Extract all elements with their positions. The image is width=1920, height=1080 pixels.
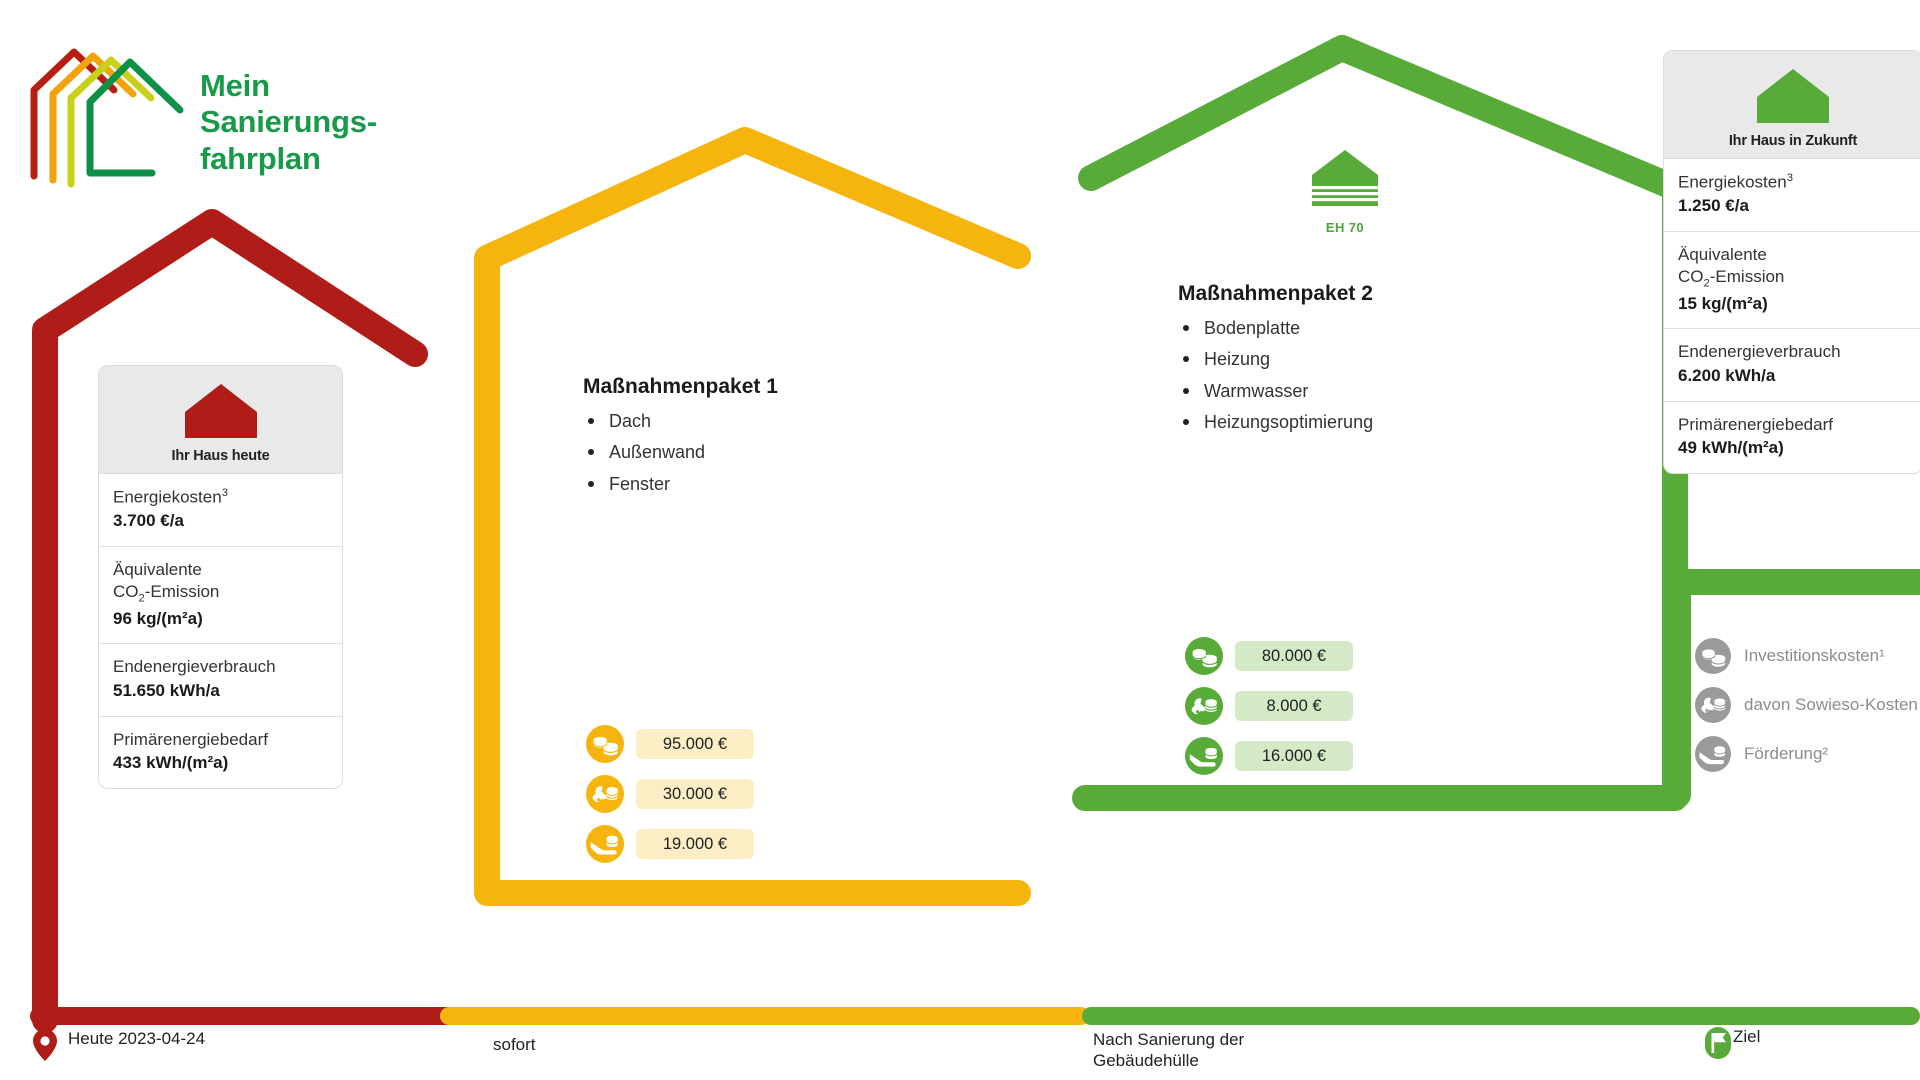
cost-row-investitionskosten: 80.000 € <box>1185 637 1353 675</box>
wrench-coins-icon <box>586 775 624 813</box>
eh-badge: EH 70 <box>1285 148 1405 235</box>
wrench-coins-icon <box>1185 687 1223 725</box>
row-label: Endenergieverbrauch <box>1678 342 1841 361</box>
card-today-header: Ihr Haus heute <box>99 366 342 474</box>
list-item: Warmwasser <box>1178 379 1508 403</box>
row-value: 51.650 kWh/a <box>113 680 328 703</box>
coins-icon <box>1695 638 1731 674</box>
row-value: 1.250 €/a <box>1678 195 1908 218</box>
cost-value: 95.000 € <box>636 729 754 759</box>
timeline-label-line2: Gebäudehülle <box>1093 1050 1199 1071</box>
flag-icon <box>1703 1026 1733 1060</box>
timeline-label: Nach Sanierung der <box>1093 1029 1244 1050</box>
row-value: 6.200 kWh/a <box>1678 365 1908 388</box>
card-today-row-co2: Äquivalente CO2-Emission 96 kg/(m²a) <box>99 547 342 645</box>
row-label-co2-pre: CO <box>1678 267 1704 286</box>
timeline-item-today: Heute 2023-04-24 <box>30 1028 205 1062</box>
timeline-item-sofort: sofort <box>493 1034 536 1055</box>
package-2: Maßnahmenpaket 2 Bodenplatte Heizung War… <box>1178 282 1508 441</box>
card-future-row-co2: Äquivalente CO2-Emission 15 kg/(m²a) <box>1664 232 1920 330</box>
row-superscript: 3 <box>222 487 228 499</box>
card-today-row-energiekosten: Energiekosten3 3.700 €/a <box>99 474 342 547</box>
card-today-title: Ihr Haus heute <box>107 448 334 464</box>
logo: Mein Sanierungs- fahrplan <box>22 28 402 218</box>
legend-row-foerderung: Förderung² <box>1695 736 1918 772</box>
card-future-title: Ihr Haus in Zukunft <box>1672 133 1914 149</box>
card-today-row-primaerenergie: Primärenergiebedarf 433 kWh/(m²a) <box>99 717 342 788</box>
package-2-list: Bodenplatte Heizung Warmwasser Heizungso… <box>1178 316 1508 434</box>
row-value: 15 kg/(m²a) <box>1678 293 1908 316</box>
card-house-future: Ihr Haus in Zukunft Energiekosten3 1.250… <box>1663 50 1920 474</box>
legend-label: Förderung² <box>1744 744 1828 764</box>
legend-label: Investitionskosten¹ <box>1744 646 1885 666</box>
row-label-co2-pre: CO <box>113 582 139 601</box>
cost-legend: Investitionskosten¹ davon Sowieso-Kosten <box>1695 638 1918 785</box>
cost-value: 19.000 € <box>636 829 754 859</box>
timeline-segment-green <box>1082 1007 1920 1025</box>
cost-value: 30.000 € <box>636 779 754 809</box>
wrench-coins-icon <box>1695 687 1731 723</box>
row-label: Energiekosten <box>113 488 222 507</box>
list-item: Heizung <box>1178 347 1508 371</box>
row-label: Energiekosten <box>1678 173 1787 192</box>
timeline-label: Ziel <box>1733 1026 1760 1047</box>
row-value: 96 kg/(m²a) <box>113 608 328 631</box>
eh-label: EH 70 <box>1285 220 1405 235</box>
row-value: 49 kWh/(m²a) <box>1678 437 1908 460</box>
house-icon-red <box>183 382 259 440</box>
timeline-label: Heute 2023-04-24 <box>68 1028 205 1049</box>
legend-row-investitionskosten: Investitionskosten¹ <box>1695 638 1918 674</box>
package-1: Maßnahmenpaket 1 Dach Außenwand Fenster <box>583 375 883 503</box>
package-2-costs: 80.000 € 8.000 € 16.000 € <box>1185 637 1353 787</box>
row-label: Äquivalente <box>1678 245 1767 264</box>
cost-value: 8.000 € <box>1235 691 1353 721</box>
sanierungsfahrplan-infographic: Mein Sanierungs- fahrplan Ihr Haus heute… <box>0 0 1920 1080</box>
cost-row-foerderung: 16.000 € <box>1185 737 1353 775</box>
legend-label: davon Sowieso-Kosten <box>1744 695 1918 715</box>
cost-row-sowieso-kosten: 30.000 € <box>586 775 754 813</box>
list-item: Dach <box>583 409 883 433</box>
package-1-list: Dach Außenwand Fenster <box>583 409 883 496</box>
row-superscript: 3 <box>1787 172 1793 184</box>
card-future-row-endenergie: Endenergieverbrauch 6.200 kWh/a <box>1664 329 1920 401</box>
cost-value: 80.000 € <box>1235 641 1353 671</box>
row-label: Endenergieverbrauch <box>113 657 276 676</box>
list-item: Bodenplatte <box>1178 316 1508 340</box>
package-2-title: Maßnahmenpaket 2 <box>1178 282 1508 306</box>
logo-houses-icon <box>22 28 197 188</box>
house-icon-eh70 <box>1310 148 1380 210</box>
row-value: 433 kWh/(m²a) <box>113 752 328 775</box>
card-future-header: Ihr Haus in Zukunft <box>1664 51 1920 159</box>
coins-icon <box>1185 637 1223 675</box>
row-label: Primärenergiebedarf <box>1678 415 1833 434</box>
map-pin-icon <box>30 1028 60 1062</box>
coins-icon <box>586 725 624 763</box>
card-future-row-energiekosten: Energiekosten3 1.250 €/a <box>1664 159 1920 232</box>
cost-row-foerderung: 19.000 € <box>586 825 754 863</box>
timeline-item-goal: Ziel <box>1703 1026 1760 1060</box>
timeline-label: sofort <box>493 1034 536 1055</box>
cost-row-investitionskosten: 95.000 € <box>586 725 754 763</box>
list-item: Außenwand <box>583 440 883 464</box>
row-label: Äquivalente <box>113 560 202 579</box>
timeline-segment-red <box>30 1007 455 1025</box>
hand-coins-icon <box>586 825 624 863</box>
row-value: 3.700 €/a <box>113 510 328 533</box>
package-1-title: Maßnahmenpaket 1 <box>583 375 883 399</box>
hand-coins-icon <box>1695 736 1731 772</box>
row-label-co2-post: -Emission <box>1710 267 1785 286</box>
list-item: Heizungsoptimierung <box>1178 410 1508 434</box>
logo-line-2: Sanierungs- <box>200 104 377 140</box>
card-future-row-primaerenergie: Primärenergiebedarf 49 kWh/(m²a) <box>1664 402 1920 473</box>
logo-line-3: fahrplan <box>200 141 377 177</box>
package-1-costs: 95.000 € 30.000 € 19.000 € <box>586 725 754 875</box>
timeline-item-after-envelope: Nach Sanierung der Gebäudehülle <box>1093 1029 1244 1072</box>
logo-text: Mein Sanierungs- fahrplan <box>200 68 377 177</box>
cost-row-sowieso-kosten: 8.000 € <box>1185 687 1353 725</box>
house-icon-green <box>1755 67 1831 125</box>
row-label: Primärenergiebedarf <box>113 730 268 749</box>
cost-value: 16.000 € <box>1235 741 1353 771</box>
list-item: Fenster <box>583 472 883 496</box>
card-today-row-endenergie: Endenergieverbrauch 51.650 kWh/a <box>99 644 342 716</box>
card-house-today: Ihr Haus heute Energiekosten3 3.700 €/a … <box>98 365 343 789</box>
timeline-segment-yellow <box>440 1007 1090 1025</box>
hand-coins-icon <box>1185 737 1223 775</box>
row-label-co2-post: -Emission <box>145 582 220 601</box>
logo-line-1: Mein <box>200 68 377 104</box>
legend-row-sowieso-kosten: davon Sowieso-Kosten <box>1695 687 1918 723</box>
